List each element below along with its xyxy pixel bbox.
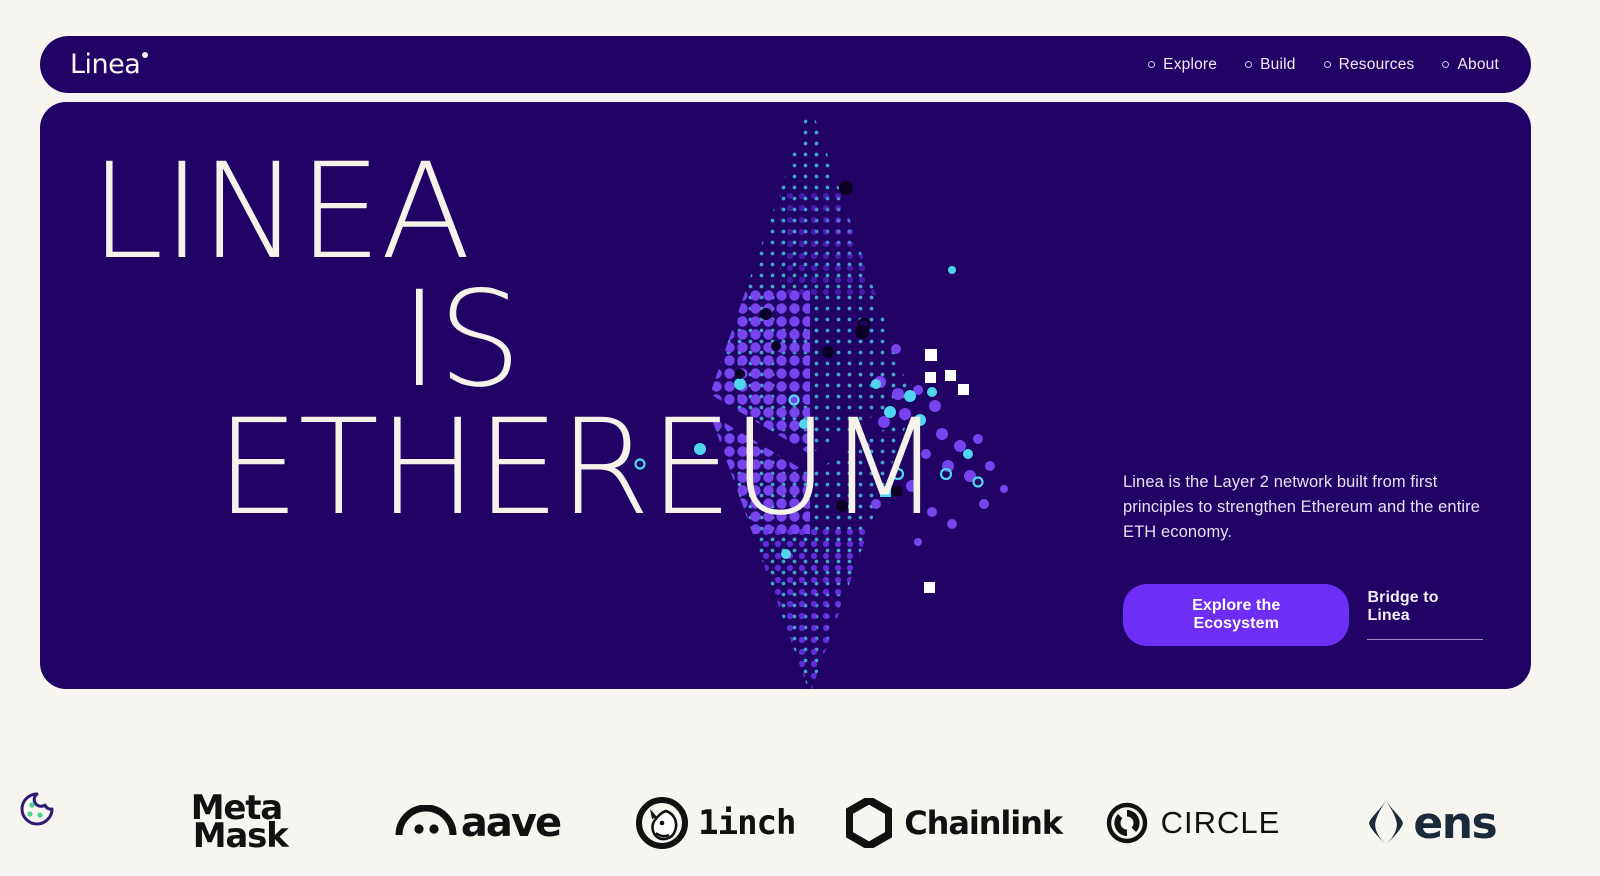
ens-lens-icon — [1365, 799, 1407, 847]
hero-content: Linea is the Layer 2 network built from … — [1123, 470, 1483, 646]
oneinch-unicorn-logo: 1inch — [636, 797, 795, 849]
partner-circle[interactable]: CIRCLE — [1073, 770, 1311, 876]
site-header: Linea Explore Build Resources About — [40, 36, 1531, 93]
nav-item-about[interactable]: About — [1442, 56, 1499, 74]
headline-line-2: IS — [40, 276, 1040, 404]
headline-line-3: ETHEREUM — [40, 404, 1040, 532]
partner-metamask[interactable]: Meta Mask — [120, 770, 358, 876]
hexagon-icon — [846, 798, 892, 848]
linea-logo[interactable]: Linea — [70, 51, 148, 78]
partner-aave[interactable]: aave — [358, 770, 596, 876]
cookie-preferences-button[interactable] — [16, 788, 58, 830]
nav-label: Explore — [1163, 56, 1217, 74]
circle-ring-icon — [1324, 61, 1331, 68]
circle-wordmark: CIRCLE — [1161, 805, 1281, 841]
partner-1inch[interactable]: 1inch — [597, 770, 835, 876]
partner-logo-strip: Meta Mask aave — [0, 770, 1600, 876]
circle-ring-icon — [1245, 61, 1252, 68]
nav-item-explore[interactable]: Explore — [1148, 56, 1217, 74]
hero-headline: LINEA IS ETHEREUM — [40, 148, 1040, 532]
partner-list: Meta Mask aave — [120, 770, 1550, 876]
ens-diamond-logo: ens — [1365, 798, 1496, 849]
explore-ecosystem-button[interactable]: Explore the Ecosystem — [1123, 584, 1349, 646]
logo-wordmark: Linea — [70, 51, 140, 78]
circle-logo: CIRCLE — [1105, 801, 1281, 845]
cookie-icon — [16, 788, 58, 830]
partner-chainlink[interactable]: Chainlink — [835, 770, 1073, 876]
chainlink-wordmark: Chainlink — [904, 804, 1062, 842]
metamask-line-2: Mask — [193, 823, 288, 851]
oneinch-wordmark: 1inch — [698, 803, 795, 843]
hero-cta-row: Explore the Ecosystem Bridge to Linea — [1123, 584, 1483, 646]
ens-wordmark: ens — [1413, 798, 1496, 849]
nav-label: Resources — [1339, 56, 1415, 74]
chainlink-hexagon-logo: Chainlink — [846, 798, 1062, 848]
nav-item-build[interactable]: Build — [1245, 56, 1295, 74]
hero-description: Linea is the Layer 2 network built from … — [1123, 470, 1483, 546]
nav-label: About — [1457, 56, 1499, 74]
page-root: Linea Explore Build Resources About — [0, 0, 1600, 876]
bridge-to-linea-link[interactable]: Bridge to Linea — [1367, 589, 1483, 640]
circle-icon — [1105, 801, 1149, 845]
headline-line-1: LINEA — [40, 148, 1040, 276]
aave-wordmark: aave — [461, 800, 560, 846]
main-nav: Explore Build Resources About — [1148, 56, 1499, 74]
partner-ens[interactable]: ens — [1312, 770, 1550, 876]
circle-ring-icon — [1442, 61, 1449, 68]
aave-arc-icon — [395, 805, 457, 841]
aave-logo: aave — [395, 800, 560, 846]
metamask-logo: Meta Mask — [191, 795, 288, 851]
nav-item-resources[interactable]: Resources — [1324, 56, 1415, 74]
circle-ring-icon — [1148, 61, 1155, 68]
dot-icon — [142, 52, 148, 58]
unicorn-icon — [636, 797, 688, 849]
nav-label: Build — [1260, 56, 1295, 74]
hero-panel: LINEA IS ETHEREUM Linea is the Layer 2 n… — [40, 102, 1531, 689]
